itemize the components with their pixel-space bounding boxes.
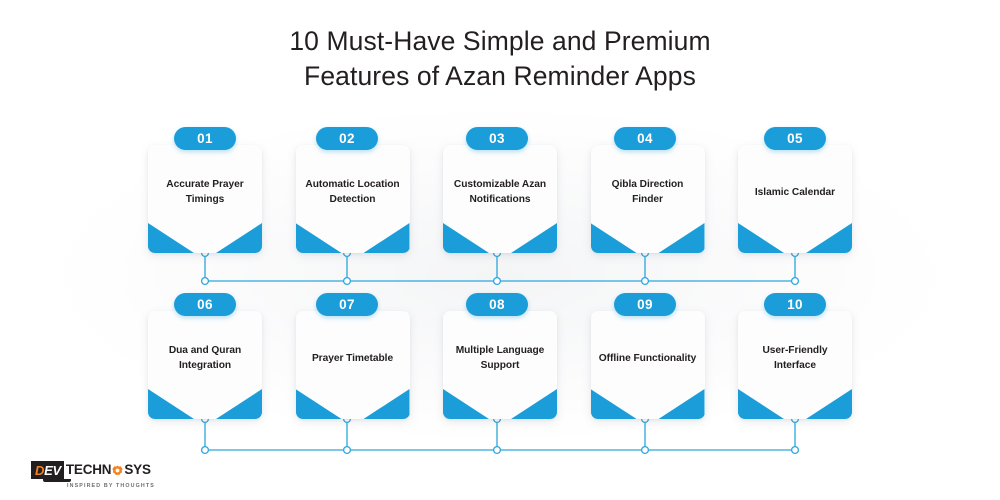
feature-card[interactable]: Offline Functionality <box>591 311 705 419</box>
brand-logo-dev-rest: EV <box>44 464 61 477</box>
corner-wedge-left-icon <box>591 223 637 253</box>
brand-logo-techn: TECHN <box>66 463 112 477</box>
gear-icon <box>111 465 124 476</box>
corner-wedge-right-icon <box>511 223 557 253</box>
feature-card[interactable]: Multiple Language Support <box>443 311 557 419</box>
corner-wedge-left-icon <box>443 389 489 419</box>
infographic-stage: 10 Must-Have Simple and Premium Features… <box>0 0 1000 500</box>
feature-card-label: Islamic Calendar <box>743 186 847 201</box>
feature-card-label: Automatic Location Detection <box>301 178 405 207</box>
corner-wedge-right-icon <box>806 389 852 419</box>
corner-wedge-right-icon <box>364 389 410 419</box>
brand-logo-wordmark: DEV TECHN SYS <box>31 461 155 479</box>
feature-card-label: Prayer Timetable <box>301 352 405 367</box>
step-number-badge[interactable]: 04 <box>614 127 676 150</box>
brand-logo-tagline: INSPIRED BY THOUGHTS <box>67 483 155 489</box>
page-title-line-2: Features of Azan Reminder Apps <box>0 59 1000 94</box>
step-number-badge[interactable]: 01 <box>174 127 236 150</box>
feature-card-label: Multiple Language Support <box>448 344 552 373</box>
corner-wedge-left-icon <box>738 389 784 419</box>
step-number-badge[interactable]: 09 <box>614 293 676 316</box>
feature-card[interactable]: Islamic Calendar <box>738 145 852 253</box>
feature-card[interactable]: Prayer Timetable <box>296 311 410 419</box>
page-title-line-1: 10 Must-Have Simple and Premium <box>0 24 1000 59</box>
corner-wedge-right-icon <box>216 223 262 253</box>
step-number-badge[interactable]: 10 <box>764 293 826 316</box>
feature-card-label: Accurate Prayer Timings <box>153 178 257 207</box>
corner-wedge-right-icon <box>511 389 557 419</box>
feature-card[interactable]: Dua and Quran Integration <box>148 311 262 419</box>
step-number-badge[interactable]: 03 <box>466 127 528 150</box>
step-number-badge[interactable]: 06 <box>174 293 236 316</box>
brand-logo-dev-d: D <box>35 464 44 477</box>
feature-card-label: User-Friendly Interface <box>743 344 847 373</box>
brand-logo[interactable]: DEV TECHN SYS INSPIRED BY THOUGHTS <box>31 461 155 488</box>
step-number-badge[interactable]: 05 <box>764 127 826 150</box>
feature-card[interactable]: User-Friendly Interface <box>738 311 852 419</box>
corner-wedge-left-icon <box>443 223 489 253</box>
page-title: 10 Must-Have Simple and Premium Features… <box>0 24 1000 94</box>
feature-row-bottom: Dua and Quran Integration Prayer Timetab… <box>148 311 852 419</box>
step-number-badge[interactable]: 07 <box>316 293 378 316</box>
brand-logo-sys: SYS <box>124 463 150 477</box>
corner-wedge-left-icon <box>296 223 342 253</box>
corner-wedge-left-icon <box>148 223 194 253</box>
feature-card[interactable]: Accurate Prayer Timings <box>148 145 262 253</box>
feature-card-label: Offline Functionality <box>596 352 700 367</box>
feature-card-label: Qibla Direction Finder <box>596 178 700 207</box>
corner-wedge-right-icon <box>659 389 705 419</box>
feature-card[interactable]: Customizable Azan Notifications <box>443 145 557 253</box>
feature-row-top: Accurate Prayer Timings Automatic Locati… <box>148 145 852 253</box>
brand-logo-dev-badge: DEV <box>31 461 64 479</box>
step-number-badge[interactable]: 02 <box>316 127 378 150</box>
brand-logo-monitor-stand-icon <box>43 479 71 482</box>
corner-wedge-left-icon <box>738 223 784 253</box>
corner-wedge-right-icon <box>806 223 852 253</box>
feature-card[interactable]: Automatic Location Detection <box>296 145 410 253</box>
corner-wedge-left-icon <box>591 389 637 419</box>
corner-wedge-right-icon <box>364 223 410 253</box>
corner-wedge-right-icon <box>216 389 262 419</box>
brand-logo-techno-text: TECHN SYS <box>64 461 151 479</box>
corner-wedge-left-icon <box>148 389 194 419</box>
feature-card-label: Dua and Quran Integration <box>153 344 257 373</box>
feature-card-label: Customizable Azan Notifications <box>448 178 552 207</box>
corner-wedge-left-icon <box>296 389 342 419</box>
step-number-badge[interactable]: 08 <box>466 293 528 316</box>
corner-wedge-right-icon <box>659 223 705 253</box>
feature-card[interactable]: Qibla Direction Finder <box>591 145 705 253</box>
